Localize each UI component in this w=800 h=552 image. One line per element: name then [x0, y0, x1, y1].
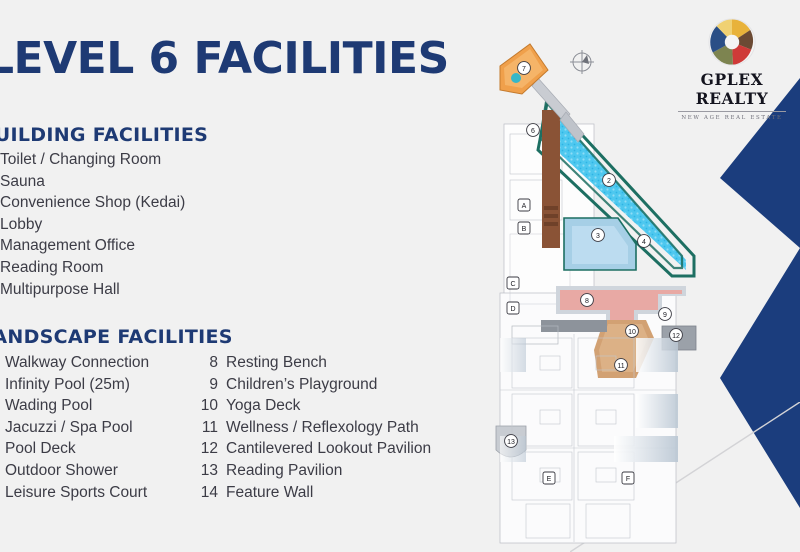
- floorplan-marker-label: 10: [628, 329, 636, 336]
- building-facilities-heading: BUILDING FACILITIES: [0, 124, 208, 146]
- landscape-facility-label: Infinity Pool (25m): [5, 374, 130, 396]
- floorplan-marker-label: C: [510, 281, 515, 288]
- floorplan-marker-12: 12: [670, 329, 683, 342]
- floorplan-marker-label: 11: [617, 363, 624, 370]
- landscape-facility-key: 9: [199, 374, 218, 396]
- landscape-facility-key: 14: [199, 482, 218, 504]
- building-facility-label: Toilet / Changing Room: [0, 149, 161, 171]
- landscape-facilities-list-right: 8Resting Bench9Children’s Playground10Yo…: [199, 352, 431, 503]
- list-item: 2Infinity Pool (25m): [0, 374, 149, 396]
- aperture-pinwheel-icon: [708, 18, 756, 66]
- landscape-facility-label: Jacuzzi / Spa Pool: [5, 417, 133, 439]
- floorplan-marker-2: 2: [603, 174, 616, 187]
- floorplan-marker-7: 7: [518, 62, 531, 75]
- building-facility-label: Reading Room: [0, 257, 103, 279]
- floorplan-marker-label: B: [522, 226, 527, 233]
- list-item: 4Jacuzzi / Spa Pool: [0, 417, 149, 439]
- slide-canvas: LEVEL 6 FACILITIES BUILDING FACILITIES A…: [0, 0, 800, 552]
- list-item: AToilet / Changing Room: [0, 149, 185, 171]
- landscape-facilities-list-left: 1Walkway Connection2Infinity Pool (25m)3…: [0, 352, 149, 503]
- floorplan-marker-f: F: [622, 472, 634, 484]
- landscape-facility-label: Outdoor Shower: [5, 460, 118, 482]
- list-item: BSauna: [0, 171, 185, 193]
- floorplan-marker-3: 3: [592, 229, 605, 242]
- floorplan-marker-b: B: [518, 222, 530, 234]
- building-facility-label: Sauna: [0, 171, 45, 193]
- floorplan-marker-label: F: [626, 476, 630, 483]
- list-item: 5Pool Deck: [0, 438, 149, 460]
- landscape-facilities-heading: LANDSCAPE FACILITIES: [0, 326, 233, 348]
- floorplan-marker-label: D: [510, 306, 515, 313]
- landscape-facility-label: Pool Deck: [5, 438, 76, 460]
- landscape-facility-label: Leisure Sports Court: [5, 482, 147, 504]
- floorplan-marker-label: 8: [585, 298, 589, 305]
- list-item: 12Cantilevered Lookout Pavilion: [199, 438, 431, 460]
- list-item: 11Wellness / Reflexology Path: [199, 417, 431, 439]
- floorplan-marker-label: 6: [531, 128, 535, 135]
- list-item: FReading Room: [0, 257, 185, 279]
- landscape-facility-label: Feature Wall: [226, 482, 313, 504]
- list-item: DLobby: [0, 214, 185, 236]
- landscape-facility-label: Children’s Playground: [226, 374, 377, 396]
- floorplan-marker-label: A: [522, 203, 527, 210]
- floorplan-marker-9: 9: [659, 308, 672, 321]
- floorplan-marker-6: 6: [527, 124, 540, 137]
- list-item: 8Resting Bench: [199, 352, 431, 374]
- landscape-facility-key: 11: [199, 417, 218, 439]
- list-item: 3Wading Pool: [0, 395, 149, 417]
- list-item: 6Outdoor Shower: [0, 460, 149, 482]
- floorplan-marker-10: 10: [626, 325, 639, 338]
- floorplan-marker-label: 7: [522, 66, 526, 73]
- floorplan-marker-label: 4: [642, 239, 646, 246]
- list-item: CConvenience Shop (Kedai): [0, 192, 185, 214]
- floorplan-marker-label: E: [547, 476, 552, 483]
- floorplan-marker-4: 4: [638, 235, 651, 248]
- list-item: 7Leisure Sports Court: [0, 482, 149, 504]
- landscape-facility-label: Reading Pavilion: [226, 460, 342, 482]
- list-item: 14Feature Wall: [199, 482, 431, 504]
- landscape-facility-key: 13: [199, 460, 218, 482]
- floorplan-marker-c: C: [507, 277, 519, 289]
- landscape-facility-label: Wading Pool: [5, 395, 92, 417]
- floorplan-marker-label: 3: [596, 233, 600, 240]
- landscape-facility-key: 12: [199, 438, 218, 460]
- landscape-facility-key: 10: [199, 395, 218, 417]
- list-item: 13Reading Pavilion: [199, 460, 431, 482]
- list-item: EManagement Office: [0, 235, 185, 257]
- landscape-facility-label: Wellness / Reflexology Path: [226, 417, 419, 439]
- level-6-floorplan: 76234ABCD8910111213EF: [486, 38, 706, 548]
- floorplan-marker-label: 2: [607, 178, 611, 185]
- floorplan-marker-e: E: [543, 472, 555, 484]
- list-item: 1Walkway Connection: [0, 352, 149, 374]
- list-item: 9Children’s Playground: [199, 374, 431, 396]
- landscape-facility-key: 8: [199, 352, 218, 374]
- building-facility-label: Lobby: [0, 214, 42, 236]
- floorplan-marker-11: 11: [615, 359, 628, 372]
- floorplan-marker-label: 12: [672, 333, 680, 340]
- floorplan-marker-d: D: [507, 302, 519, 314]
- floorplan-marker-8: 8: [581, 294, 594, 307]
- landscape-facility-label: Cantilevered Lookout Pavilion: [226, 438, 431, 460]
- building-facility-label: Multipurpose Hall: [0, 279, 120, 301]
- landscape-facility-label: Resting Bench: [226, 352, 327, 374]
- floorplan-marker-label: 9: [663, 312, 667, 319]
- building-facilities-list: AToilet / Changing RoomBSaunaCConvenienc…: [0, 149, 185, 300]
- north-compass-icon: [570, 50, 594, 74]
- building-facility-label: Convenience Shop (Kedai): [0, 192, 185, 214]
- list-item: GMultipurpose Hall: [0, 279, 185, 301]
- page-title: LEVEL 6 FACILITIES: [0, 33, 449, 84]
- floorplan-marker-a: A: [518, 199, 530, 211]
- landscape-facility-label: Yoga Deck: [226, 395, 300, 417]
- floorplan-marker-label: 13: [507, 439, 515, 446]
- building-facility-label: Management Office: [0, 235, 135, 257]
- list-item: 10Yoga Deck: [199, 395, 431, 417]
- landscape-facility-label: Walkway Connection: [5, 352, 149, 374]
- floorplan-marker-13: 13: [505, 435, 518, 448]
